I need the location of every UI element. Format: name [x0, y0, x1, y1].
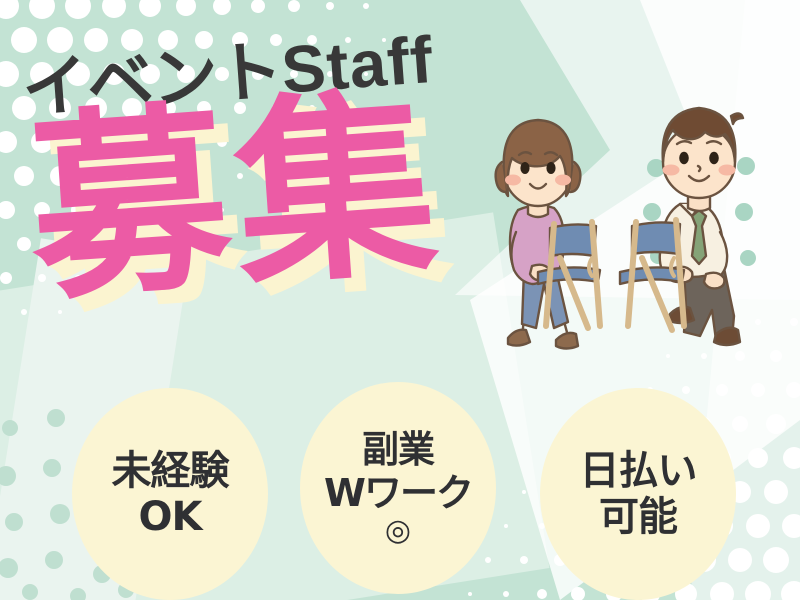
illustration-people-with-chairs	[488, 100, 800, 360]
badge-line-2: Wワーク	[324, 473, 472, 513]
badge-daily-payment[interactable]: 日払い 可能	[540, 388, 736, 600]
badge-line-1: 未経験	[112, 450, 229, 492]
badge-line-1: 副業	[362, 430, 434, 469]
badge-line-2: 可能	[599, 496, 677, 538]
main-word-group: 募集 募集	[23, 89, 447, 307]
badge-no-experience[interactable]: 未経験 OK	[72, 388, 268, 600]
badge-line-2: OK	[139, 496, 202, 538]
poster-canvas: イベントStaff 募集 募集	[0, 0, 800, 600]
badge-line-1: 日払い	[580, 450, 697, 492]
badge-side-job[interactable]: 副業 Wワーク ◎	[300, 382, 496, 594]
main-word: 募集	[22, 68, 449, 329]
badge-line-3-double-circle-icon: ◎	[385, 516, 411, 546]
